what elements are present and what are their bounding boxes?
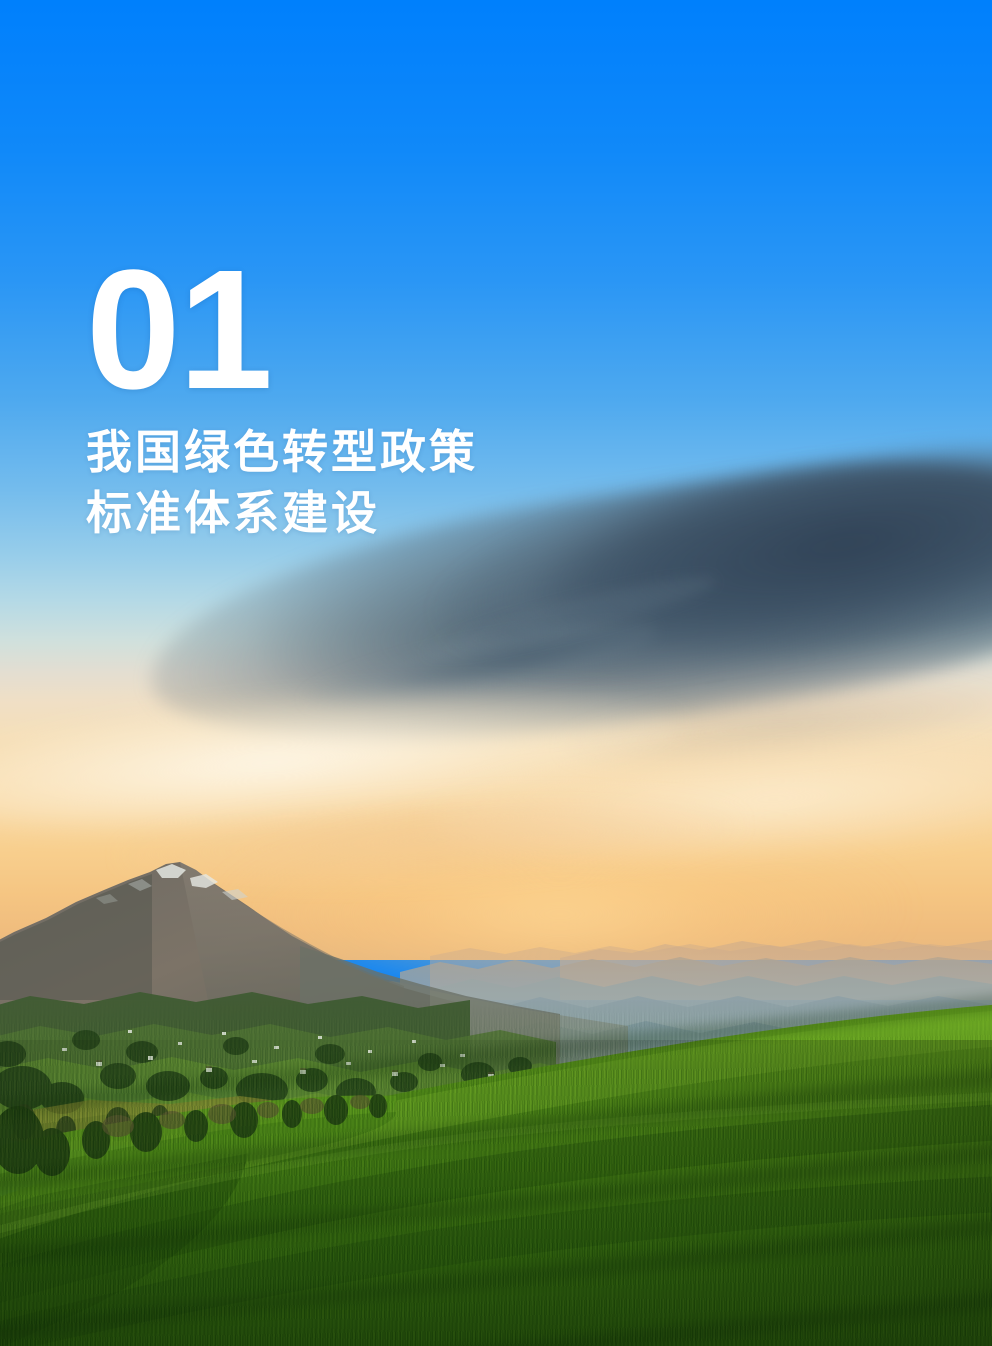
page-title: 我国绿色转型政策 标准体系建设 [86, 422, 478, 543]
meadow-vignette [0, 1040, 992, 1346]
background-photo [0, 0, 992, 1346]
section-divider-page: 01 我国绿色转型政策 标准体系建设 [0, 0, 992, 1346]
page-title-line-2: 标准体系建设 [86, 483, 478, 544]
page-title-line-1: 我国绿色转型政策 [86, 422, 478, 483]
section-number: 01 [86, 252, 478, 408]
title-block: 01 我国绿色转型政策 标准体系建设 [86, 252, 478, 544]
